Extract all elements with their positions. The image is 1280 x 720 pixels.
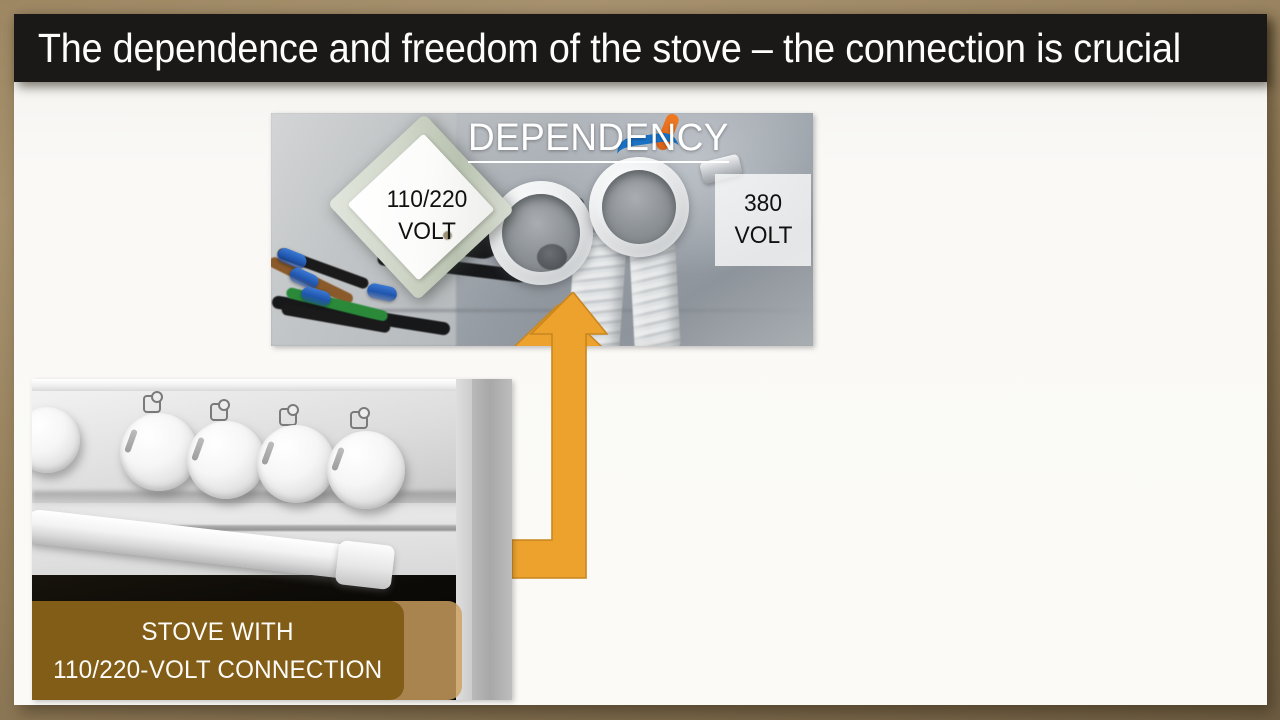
- stove-caption-line1: STOVE WITH: [142, 613, 294, 651]
- oven-door-handle-end: [335, 540, 396, 590]
- label-380-line1: 380: [744, 188, 782, 220]
- junction-box-left: [489, 181, 593, 285]
- stove-knob-icon-3[interactable]: [257, 425, 335, 503]
- label-110-220-volt: 110/220 VOLT: [375, 184, 480, 248]
- burner-indicator-icon-3: [279, 408, 297, 426]
- label-110-220-line1: 110/220: [375, 184, 480, 216]
- dependency-heading: DEPENDENCY: [468, 119, 729, 163]
- burner-indicator-icon-2: [210, 403, 228, 421]
- stove-caption-band: STOVE WITH 110/220-VOLT CONNECTION: [32, 601, 404, 700]
- slide-title: The dependence and freedom of the stove …: [14, 28, 1181, 69]
- stove-knob-icon-4[interactable]: [327, 431, 405, 509]
- junction-box-hole: [537, 244, 567, 270]
- burner-indicator-icon-1: [143, 395, 161, 413]
- burner-indicator-icon-4: [350, 411, 368, 429]
- stove-side-panel: [472, 379, 512, 700]
- slide-backdrop: The dependence and freedom of the stove …: [0, 0, 1280, 720]
- junction-box-right-cavity: [602, 170, 676, 244]
- label-380-line2: VOLT: [734, 220, 792, 252]
- junction-box-right: [589, 157, 689, 257]
- flow-arrow-icon: [508, 292, 608, 584]
- slide-title-bar: The dependence and freedom of the stove …: [14, 14, 1267, 82]
- stove-caption-line2: 110/220-VOLT CONNECTION: [53, 651, 382, 689]
- label-380-volt-box: 380 VOLT: [715, 174, 811, 266]
- label-110-220-line2: VOLT: [375, 216, 480, 248]
- stove-knob-icon-1[interactable]: [120, 413, 198, 491]
- stove-cooktop-edge: [32, 379, 512, 391]
- stove-knob-icon-2[interactable]: [187, 421, 265, 499]
